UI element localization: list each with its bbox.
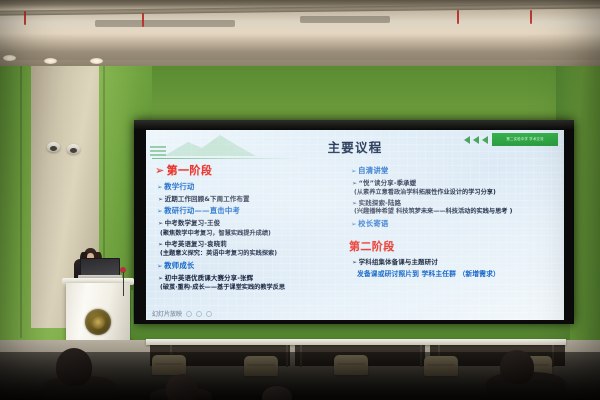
list-item: ➢学科组集体备课与主题研讨 (352, 256, 557, 266)
slide-title: 主要议程 (146, 137, 564, 156)
taskbar-pen-icon[interactable] (196, 311, 202, 317)
list-item-note: (主题意义探究：英语中考复习的实践探索) (160, 248, 351, 257)
list-item-note: (兴趣播种希望 科技筑梦未来——科技活动的实践与思考 ) (354, 208, 554, 216)
phase-two-heading: 第二阶段 (349, 238, 557, 254)
sub-heading-ziqing-lecture: ➢自清讲堂 (351, 165, 557, 176)
wall-seam (20, 66, 22, 338)
header-underline (152, 158, 304, 159)
sub-heading-teaching-action: ➢教学行动 (157, 181, 351, 192)
bullet-icon: ➢ (157, 183, 163, 191)
slide-left-column: ➢第一阶段 ➢教学行动 ➢近期工作回顾&下周工作布置 ➢教研行动——直击中考 ➢… (155, 162, 351, 291)
audience-head (56, 348, 92, 386)
audience-head (500, 350, 534, 384)
presentation-slide[interactable]: 第二实验中学 学术交流 主要议程 ➢第一阶段 ➢教学行动 ➢近期工作回顾&下周工… (146, 130, 564, 320)
list-item-note: (破茧·重构·成长——基于课堂实践的教学反思 (160, 282, 351, 291)
bullet-icon: ➢ (157, 207, 163, 215)
floor-cable (131, 290, 133, 338)
school-emblem-icon (85, 309, 111, 335)
conference-table (146, 339, 566, 345)
ceiling-camera-icon (47, 142, 60, 152)
bullet-icon: ➢ (351, 220, 357, 228)
list-item: ➢初中英语优质课大赛分享-张辉 (158, 272, 351, 282)
slide-taskbar[interactable]: 幻灯片放映 (152, 309, 212, 318)
slide-right-column: ➢自清讲堂 ➢“悦”读分享-季承媛 (从素养立意看政治学科拓展性作业设计的学习分… (349, 162, 557, 278)
list-item-note: (聚焦数学中考复习，智慧实践提升成绩) (160, 228, 351, 237)
laptop-screen (80, 258, 120, 276)
sprinkler-head-icon (457, 10, 459, 24)
taskbar-label: 幻灯片放映 (152, 309, 182, 318)
bullet-icon: ➢ (158, 275, 163, 282)
list-item: ➢“悦”读分享-季承媛 (352, 177, 557, 187)
sub-heading-principal-message: ➢校长寄语 (351, 218, 557, 229)
list-item: ➢近期工作回顾&下周工作布置 (158, 193, 351, 203)
back-wall-upper (130, 66, 570, 124)
ceiling-beam (0, 3, 600, 15)
list-item: ➢中考英语复习-袁晓莉 (158, 238, 351, 248)
bullet-icon: ➢ (352, 259, 357, 266)
bullet-icon: ➢ (158, 241, 163, 248)
sprinkler-head-icon (24, 11, 26, 25)
sub-heading-research-action: ➢教研行动——直击中考 (157, 205, 351, 216)
bullet-icon: ➢ (157, 262, 163, 270)
microphone-stand (123, 272, 124, 296)
bullet-icon: ➢ (155, 164, 165, 177)
ceiling (0, 0, 600, 72)
ceiling-vent (300, 16, 390, 23)
audience-head (166, 374, 198, 400)
bullet-icon: ➢ (158, 220, 163, 227)
conference-room-scene: 第二实验中学 学术交流 主要议程 ➢第一阶段 ➢教学行动 ➢近期工作回顾&下周工… (0, 0, 600, 400)
list-item: ➢中考数学复习-王俊 (158, 217, 351, 227)
ceiling-vent (95, 20, 235, 27)
sub-heading-teacher-growth: ➢教师成长 (157, 260, 351, 271)
list-item-note: (从素养立意看政治学科拓展性作业设计的学习分享) (354, 187, 557, 196)
speaker-podium (66, 283, 130, 343)
bullet-icon: ➢ (351, 167, 357, 175)
phase-one-heading: ➢第一阶段 (155, 162, 351, 178)
taskbar-pointer-icon[interactable] (186, 311, 192, 317)
sprinkler-head-icon (530, 10, 532, 24)
bullet-icon: ➢ (158, 196, 163, 203)
list-item-highlight: 发备课或研讨照片到 学科主任群 （新增需求） (357, 268, 557, 278)
ceiling-light (44, 58, 57, 64)
ceiling-light (3, 55, 16, 61)
sprinkler-head-icon (142, 13, 144, 27)
bullet-icon: ➢ (352, 200, 357, 207)
list-item: ➢实践探索-陆路 (352, 197, 557, 207)
ceiling-speaker-icon (67, 144, 80, 154)
taskbar-menu-icon[interactable] (206, 311, 212, 317)
bullet-icon: ➢ (352, 180, 357, 187)
ceiling-light (90, 58, 103, 64)
